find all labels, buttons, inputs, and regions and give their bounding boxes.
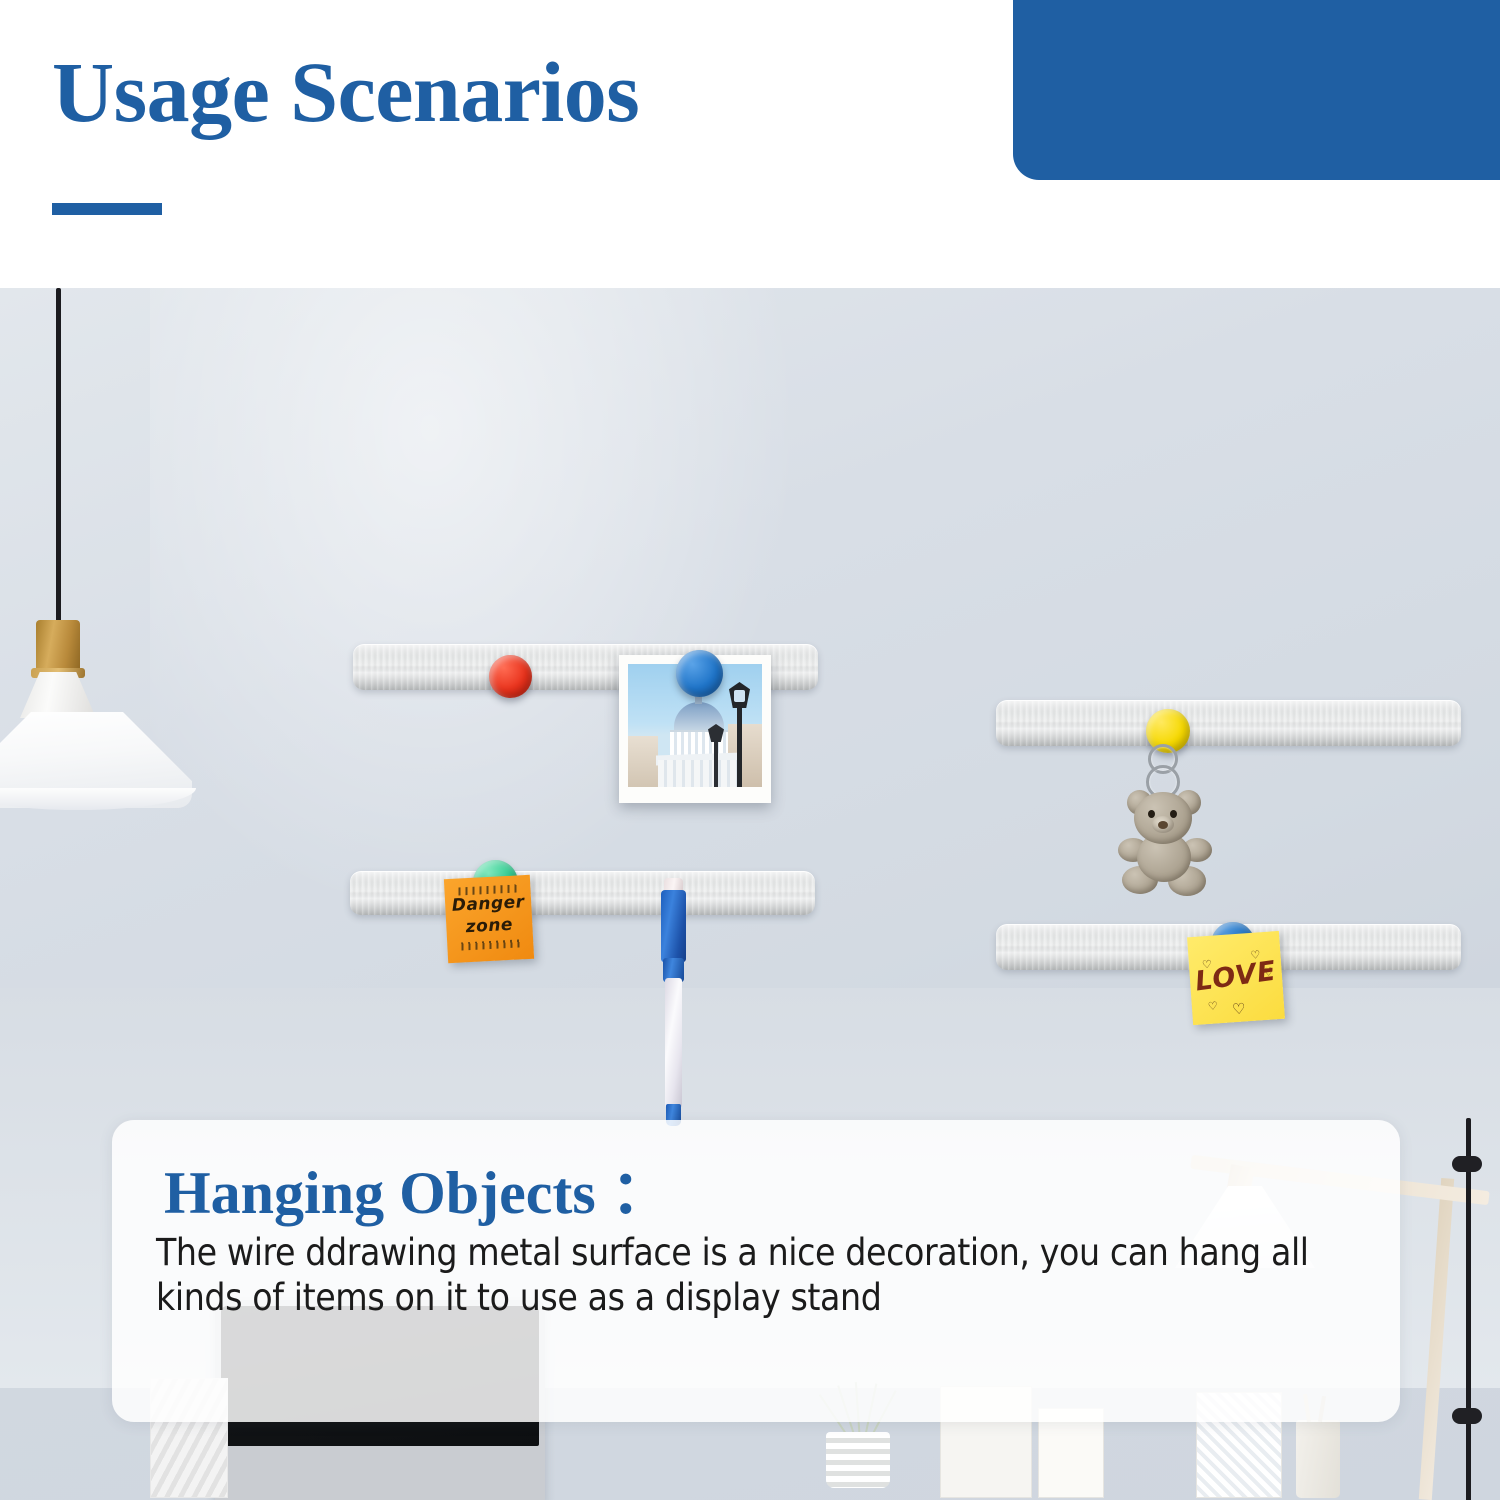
sticky-note-orange-line1: Danger bbox=[445, 893, 532, 916]
power-cable bbox=[1466, 1118, 1471, 1500]
photo-street-lamp-head bbox=[729, 682, 750, 708]
caption-panel: Hanging Objects ： The wire ddrawing meta… bbox=[112, 1120, 1400, 1422]
title-underline-rule bbox=[52, 203, 162, 215]
teddy-nose bbox=[1158, 821, 1168, 829]
squiggle-line bbox=[459, 939, 521, 950]
plant-pot bbox=[826, 1432, 890, 1488]
sticky-note-orange: Danger zone bbox=[444, 875, 534, 963]
photo-left-building bbox=[628, 736, 658, 787]
lamp-cord bbox=[56, 288, 61, 628]
blue-magnet-photo[interactable] bbox=[676, 650, 723, 697]
caption-body: The wire ddrawing metal surface is a nic… bbox=[156, 1230, 1366, 1320]
page-title: Usage Scenarios bbox=[52, 42, 639, 142]
heart-icon: ♡ bbox=[1207, 999, 1216, 1008]
magnetic-strip-top-right bbox=[996, 700, 1461, 746]
heart-icon: ♡ bbox=[1232, 1000, 1241, 1009]
product-usage-scene: Danger zone ♡ ♡ ♡ LOVE ♡ ♡ Hangi bbox=[0, 288, 1500, 1500]
photo-facade bbox=[658, 760, 740, 787]
cable-clip bbox=[1452, 1408, 1482, 1424]
header: Usage Scenarios Wukong ® bbox=[0, 0, 1500, 288]
red-magnet[interactable] bbox=[489, 655, 532, 698]
teddy-eye bbox=[1170, 810, 1177, 818]
pen-cup bbox=[1296, 1420, 1340, 1498]
sticky-note-orange-line2: zone bbox=[446, 915, 533, 938]
teddy-eye bbox=[1148, 810, 1155, 818]
magnetic-strip-middle-left bbox=[350, 871, 815, 915]
lamp-brass-socket bbox=[36, 620, 80, 672]
teddy-bear-keychain bbox=[1110, 788, 1220, 906]
whiteboard-marker bbox=[659, 878, 687, 1128]
caption-heading: Hanging Objects ： bbox=[164, 1144, 671, 1231]
cable-clip bbox=[1452, 1156, 1482, 1172]
sticky-note-yellow: ♡ ♡ ♡ LOVE ♡ ♡ bbox=[1187, 931, 1285, 1025]
heart-icon: ♡ bbox=[1250, 948, 1259, 957]
marker-cap bbox=[661, 890, 686, 962]
brand-logo-badge: Wukong ® bbox=[1013, 0, 1500, 180]
marker-barrel bbox=[665, 978, 682, 1108]
